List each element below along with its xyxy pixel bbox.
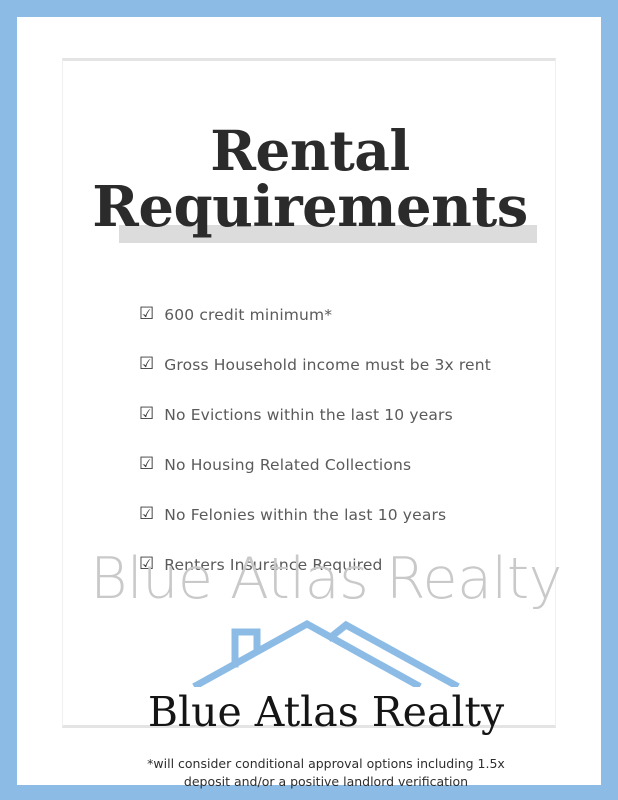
list-item: ☑ Gross Household income must be 3x rent [139,340,559,390]
list-item-label: Renters Insurance Required [164,556,382,574]
list-item-label: No Housing Related Collections [164,456,411,474]
checked-checkbox-icon: ☑ [139,556,154,573]
title-line-1: Rental [63,123,557,179]
list-item-label: 600 credit minimum* [164,306,332,324]
checked-checkbox-icon: ☑ [139,456,154,473]
list-item: ☑ No Evictions within the last 10 years [139,390,559,440]
footer-disclaimer: *will consider conditional approval opti… [34,755,618,791]
list-item: ☑ No Housing Related Collections [139,440,559,490]
list-item: ☑ 600 credit minimum* [139,290,559,340]
list-item-label: No Felonies within the last 10 years [164,506,446,524]
footer-line-1: *will consider conditional approval opti… [34,755,618,773]
brand-wordmark: Blue Atlas Realty [34,689,618,735]
checked-checkbox-icon: ☑ [139,306,154,323]
checked-checkbox-icon: ☑ [139,406,154,423]
checked-checkbox-icon: ☑ [139,506,154,523]
double-roofline-house-icon [191,611,461,687]
brand-logo: Blue Atlas Realty [34,611,618,735]
flyer-page-sheet: Rental Requirements ☑ 600 credit minimum… [17,17,601,785]
footer-line-2: deposit and/or a positive landlord verif… [34,773,618,791]
requirements-list: ☑ 600 credit minimum* ☑ Gross Household … [139,290,559,590]
checked-checkbox-icon: ☑ [139,356,154,373]
list-item-label: No Evictions within the last 10 years [164,406,453,424]
list-item: ☑ Renters Insurance Required [139,540,559,590]
flyer-blue-frame: Rental Requirements ☑ 600 credit minimum… [0,0,618,800]
title-line-2: Requirements [63,179,557,235]
list-item-label: Gross Household income must be 3x rent [164,356,491,374]
list-item: ☑ No Felonies within the last 10 years [139,490,559,540]
page-title: Rental Requirements [63,123,557,235]
